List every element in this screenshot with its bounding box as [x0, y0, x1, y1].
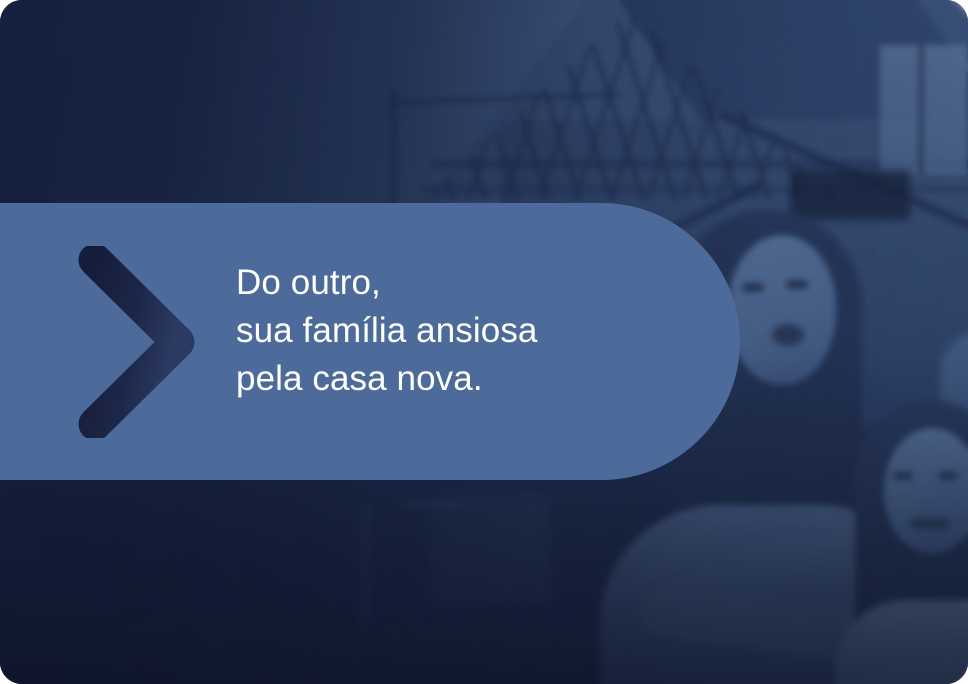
arrow-right-icon [0, 246, 210, 438]
headline-text: Do outro, sua família ansiosa pela casa … [236, 259, 666, 403]
promo-banner: Do outro, sua família ansiosa pela casa … [0, 0, 968, 684]
